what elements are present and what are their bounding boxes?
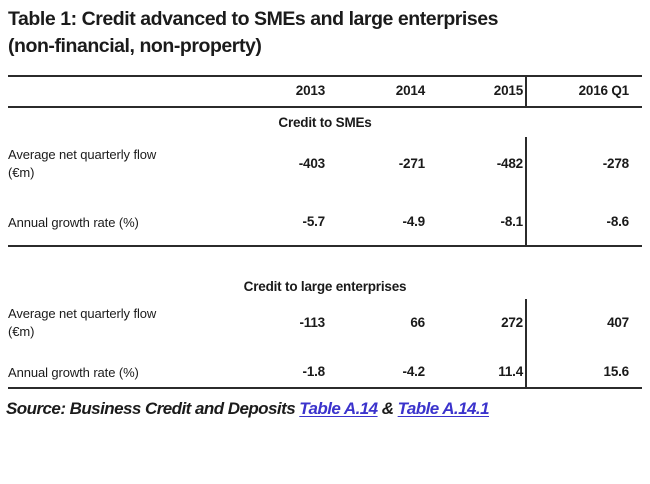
row-label-line-2: (€m) [8, 165, 34, 180]
column-header-2013: 2013 [205, 83, 325, 98]
source-prefix: Source: Business Credit and Deposits [6, 399, 299, 418]
table-cell: -403 [205, 156, 325, 171]
table-cell: -8.6 [529, 214, 629, 229]
table-cell: -271 [325, 156, 425, 171]
row-label-line-1: Average net quarterly flow [8, 147, 156, 162]
table-cell: -4.9 [325, 214, 425, 229]
table-header-bottom-rule [8, 106, 642, 108]
column-header-2014: 2014 [325, 83, 425, 98]
column-header-2015: 2015 [425, 83, 523, 98]
section-separator-rule [8, 245, 642, 247]
column-header-2016-q1: 2016 Q1 [529, 83, 629, 98]
row-label-line-1: Average net quarterly flow [8, 306, 156, 321]
row-label-line-2: (€m) [8, 324, 34, 339]
source-link-table-a14[interactable]: Table A.14 [299, 399, 377, 418]
table-page: Table 1: Credit advanced to SMEs and lar… [0, 0, 650, 484]
page-title-line-2: (non-financial, non-property) [8, 33, 642, 60]
page-title-line-1: Table 1: Credit advanced to SMEs and lar… [8, 6, 642, 33]
table-cell: -5.7 [205, 214, 325, 229]
source-link-table-a14-1[interactable]: Table A.14.1 [398, 399, 489, 418]
table-cell: -482 [425, 156, 523, 171]
section-caption-smes: Credit to SMEs [0, 115, 650, 130]
table-cell: -4.2 [325, 364, 425, 379]
table-cell: -113 [205, 315, 325, 330]
row-label-avg-net-flow-large: Average net quarterly flow (€m) [8, 305, 213, 341]
page-title: Table 1: Credit advanced to SMEs and lar… [8, 6, 642, 60]
section-smes-column-divider [525, 137, 527, 247]
table-cell: 15.6 [529, 364, 629, 379]
table-cell: 66 [325, 315, 425, 330]
row-label-annual-growth-smes: Annual growth rate (%) [8, 214, 213, 232]
source-note: Source: Business Credit and Deposits Tab… [6, 399, 489, 419]
table-cell: -8.1 [425, 214, 523, 229]
table-cell: 407 [529, 315, 629, 330]
table-cell: -278 [529, 156, 629, 171]
table-cell: -1.8 [205, 364, 325, 379]
header-column-divider [525, 76, 527, 107]
row-label-line-1: Annual growth rate (%) [8, 365, 139, 380]
table-bottom-rule [8, 387, 642, 389]
section-caption-large-enterprises: Credit to large enterprises [0, 279, 650, 294]
table-top-rule [8, 75, 642, 77]
row-label-avg-net-flow-smes: Average net quarterly flow (€m) [8, 146, 213, 182]
section-large-enterprises-column-divider [525, 299, 527, 388]
row-label-annual-growth-large: Annual growth rate (%) [8, 364, 213, 382]
table-cell: 272 [425, 315, 523, 330]
source-separator: & [378, 399, 398, 418]
row-label-line-1: Annual growth rate (%) [8, 215, 139, 230]
table-cell: 11.4 [425, 364, 523, 379]
